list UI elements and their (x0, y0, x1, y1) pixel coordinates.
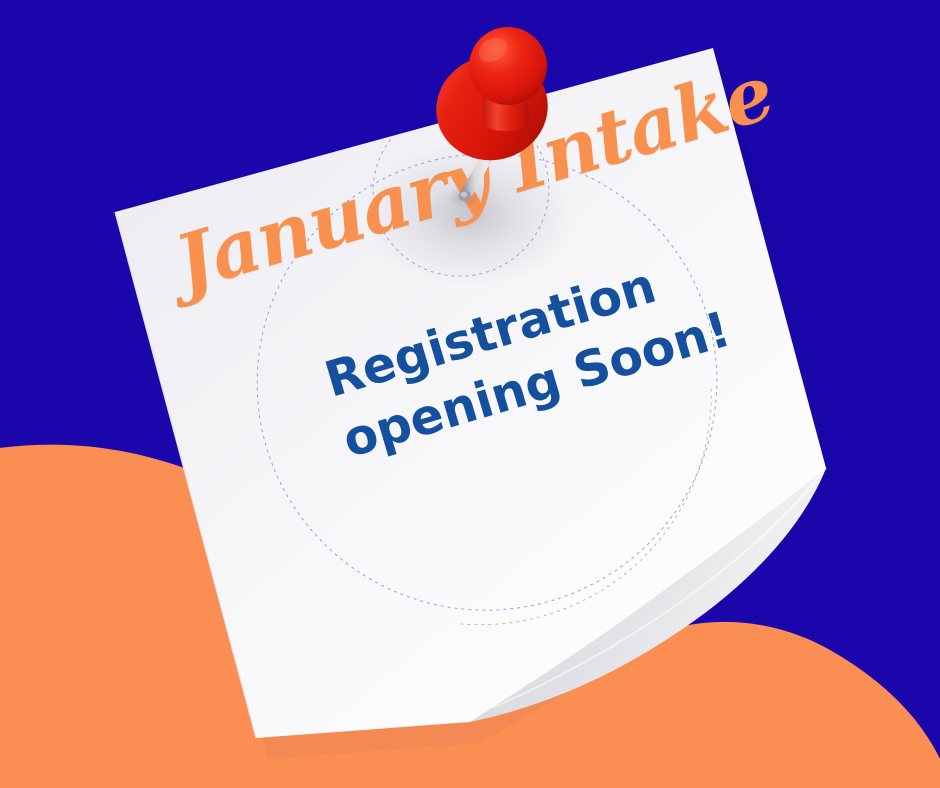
pushpin-ball (469, 27, 547, 105)
poster-canvas: January Intake Registration opening Soon… (0, 0, 940, 788)
pushpin[interactable] (430, 22, 580, 212)
